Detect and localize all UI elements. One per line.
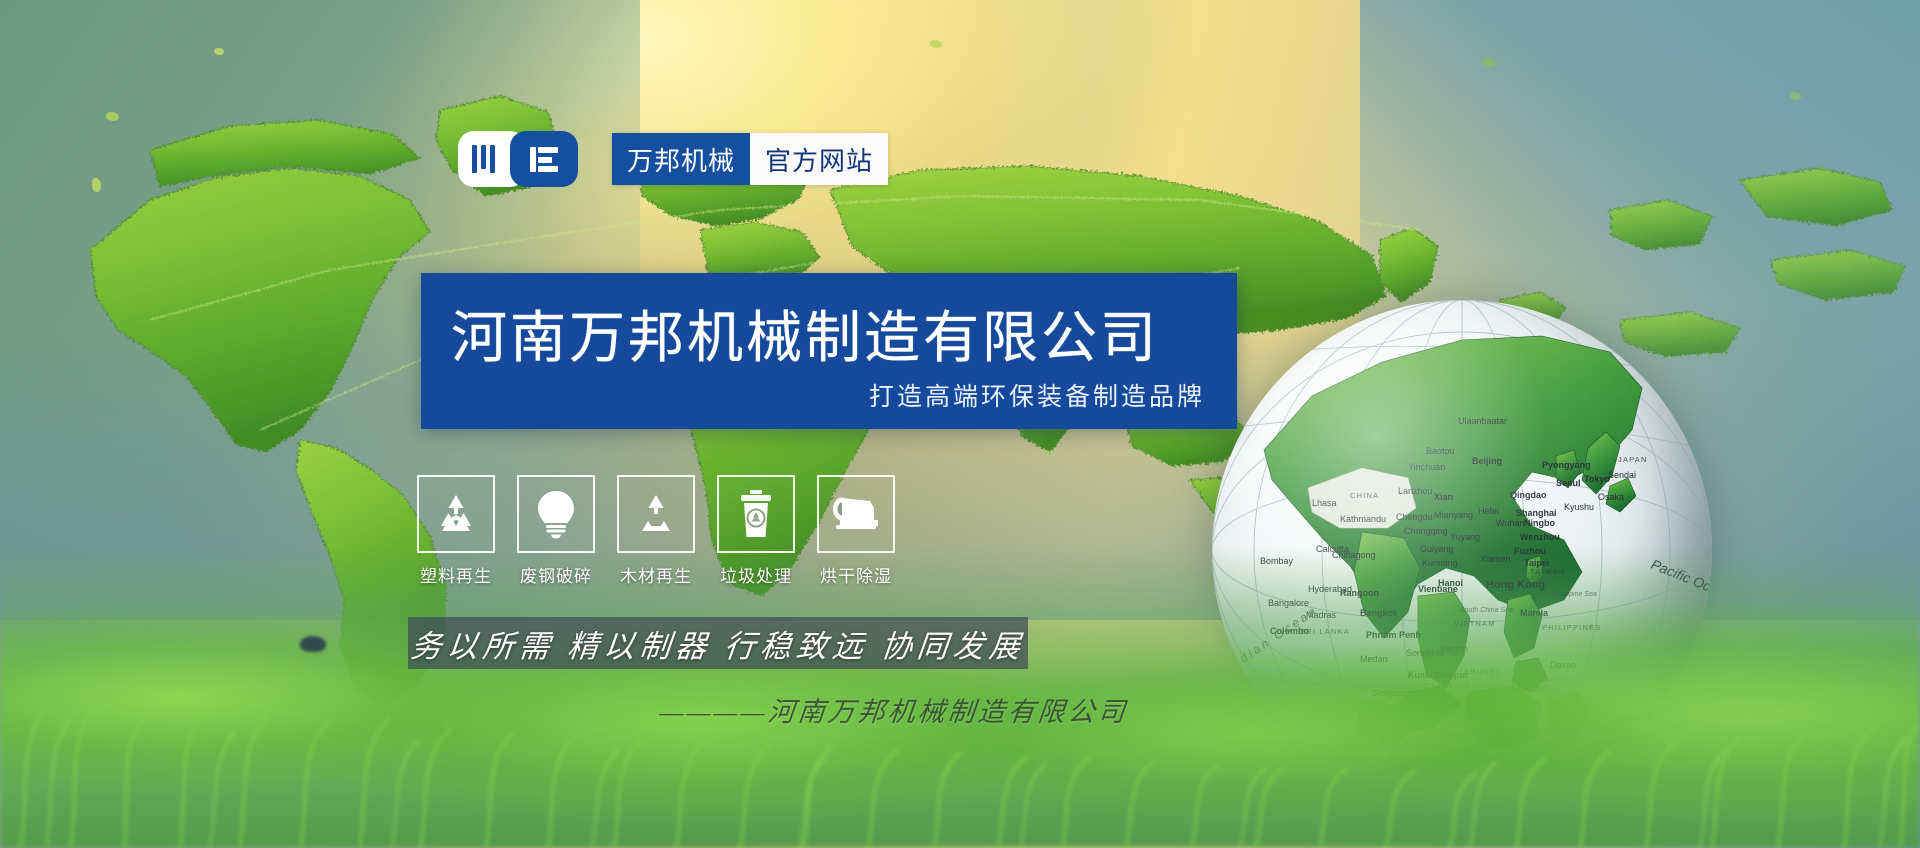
svg-text:CHINA: CHINA [1350,491,1379,500]
service-label: 废钢破碎 [520,562,592,587]
service-item[interactable]: 废钢破碎 [517,475,595,587]
company-name: 河南万邦机械制造有限公司 [451,293,1159,374]
logo-w-icon [472,145,495,173]
service-item[interactable]: 塑料再生 [417,475,495,587]
svg-text:Kyushu: Kyushu [1564,502,1594,512]
svg-text:JAPAN: JAPAN [1618,455,1648,464]
svg-text:Tokyo: Tokyo [1584,474,1610,484]
svg-text:Yuyang: Yuyang [1450,532,1480,542]
svg-text:Yinchuan: Yinchuan [1408,462,1445,472]
svg-text:Kathmandu: Kathmandu [1340,514,1386,524]
slogan-attribution: ————河南万邦机械制造有限公司 [658,690,1222,729]
hero-banner: Pacific Ocean Indian Ocean South China S… [0,0,1920,848]
lightbulb-icon [517,475,595,553]
svg-text:Xian: Xian [1434,492,1453,502]
service-item[interactable]: 木材再生 [617,475,695,587]
service-label: 烘干除湿 [820,562,892,587]
nav-brand-label[interactable]: 万邦机械 [612,133,750,185]
leaf-speck [106,112,119,121]
company-tagline: 打造高端环保装备制造品牌 [869,377,1205,413]
site-nav-box: 万邦机械 官方网站 [612,133,888,185]
leaf-speck [92,178,101,192]
service-label: 木材再生 [620,562,692,587]
trashbin-icon [717,475,795,553]
svg-text:Sendai: Sendai [1608,470,1636,480]
svg-text:Ningbo: Ningbo [1524,518,1555,528]
svg-text:Seoul: Seoul [1556,478,1581,488]
svg-text:Shanghai: Shanghai [1516,508,1557,518]
service-label: 垃圾处理 [720,562,792,587]
svg-text:Mianyang: Mianyang [1434,510,1473,520]
service-item[interactable]: 烘干除湿 [817,475,895,587]
svg-text:Qingdao: Qingdao [1510,490,1547,500]
slogan-band: 务以所需 精以制器 行稳致远 协同发展 [408,617,1028,669]
svg-text:Ulaanbaatar: Ulaanbaatar [1458,416,1507,426]
dryer-icon [817,475,895,553]
svg-text:Baotou: Baotou [1426,446,1455,456]
svg-text:Chongqing: Chongqing [1404,526,1448,536]
leaf-speck [1482,58,1496,67]
leaf-speck [214,48,224,55]
hero-title-panel: 河南万邦机械制造有限公司 打造高端环保装备制造品牌 [421,273,1237,429]
svg-text:Wuhan: Wuhan [1496,518,1524,528]
service-label: 塑料再生 [420,562,492,587]
leaf-speck [1790,92,1801,100]
svg-text:Wenzhou: Wenzhou [1520,532,1560,542]
svg-text:Beijing: Beijing [1472,456,1502,466]
recycle-icon [617,475,695,553]
svg-text:Hefei: Hefei [1478,506,1499,516]
grass-insect [300,636,326,652]
logo-b-icon [530,147,558,172]
recycle-icon [417,475,495,553]
svg-text:Osaka: Osaka [1598,492,1624,502]
leaf-speck [930,40,942,48]
service-item[interactable]: 垃圾处理 [717,475,795,587]
svg-text:Pyongyang: Pyongyang [1542,460,1591,470]
slogan-text: 务以所需 精以制器 行稳致远 协同发展 [409,621,1028,666]
brand-header: 万邦机械 官方网站 [458,131,888,187]
svg-text:Lhasa: Lhasa [1312,498,1337,508]
svg-text:Chengdu: Chengdu [1396,512,1433,522]
wanbang-logo[interactable] [458,131,578,187]
service-icon-row: 塑料再生 废钢破碎 木材再生 [417,475,895,587]
nav-site-label[interactable]: 官方网站 [750,133,888,185]
svg-text:Lanzhou: Lanzhou [1398,486,1433,496]
